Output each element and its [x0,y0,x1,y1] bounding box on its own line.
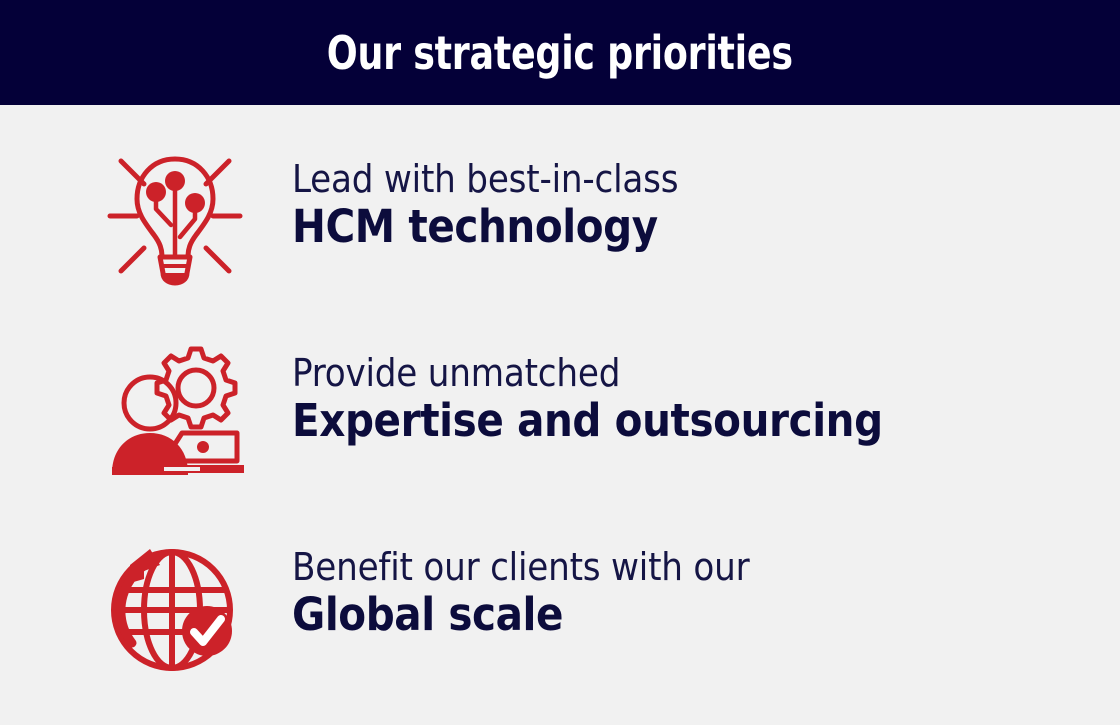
priority-text-1: Lead with best-in-class HCM technology [292,147,1120,253]
priority-headline-3: Global scale [292,588,1120,641]
priorities-list: Lead with best-in-class HCM technology [0,105,1120,709]
person-gear-laptop-icon [104,341,246,481]
priority-text-2: Provide unmatched Expertise and outsourc… [292,341,1120,447]
lightbulb-circuit-icon [104,147,246,287]
priority-item-2: Provide unmatched Expertise and outsourc… [0,341,1120,531]
priority-headline-1: HCM technology [292,200,1120,253]
priority-lead-1: Lead with best-in-class [292,159,1120,200]
priority-lead-2: Provide unmatched [292,353,1120,394]
globe-arrow-check-icon [104,535,246,675]
header-band: Our strategic priorities [0,0,1120,105]
priority-text-3: Benefit our clients with our Global scal… [292,535,1120,641]
priority-headline-2: Expertise and outsourcing [292,394,1120,447]
priority-item-3: Benefit our clients with our Global scal… [0,535,1120,725]
priority-item-1: Lead with best-in-class HCM technology [0,147,1120,337]
priority-lead-3: Benefit our clients with our [292,547,1120,588]
page-title: Our strategic priorities [327,30,793,76]
slide: Our strategic priorities [0,0,1120,709]
